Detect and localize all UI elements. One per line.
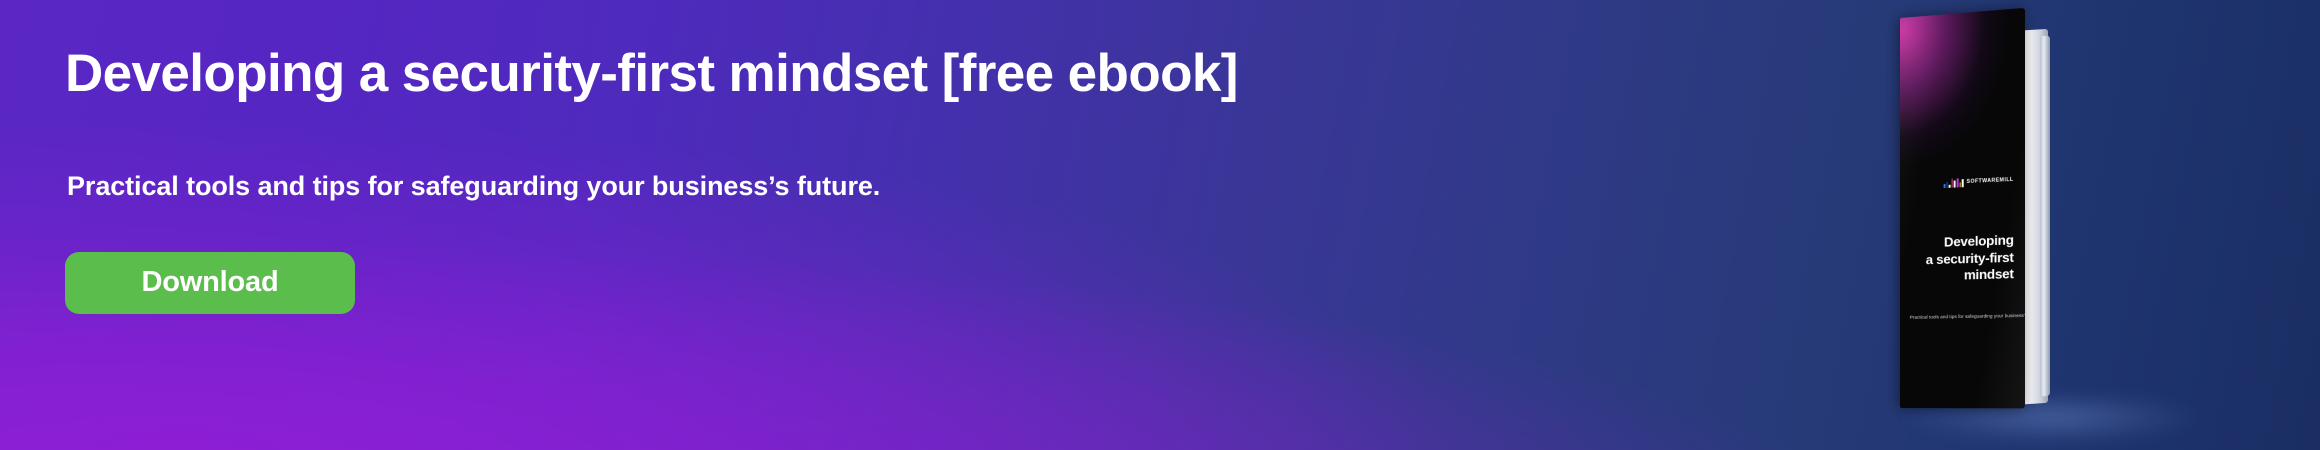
book-cover: SOFTWAREMILL Developing a security-first… — [1900, 8, 2025, 409]
book-cover-content: SOFTWAREMILL Developing a security-first… — [1900, 8, 2025, 409]
softwaremill-bars-icon — [1944, 178, 1964, 188]
download-button[interactable]: Download — [65, 252, 355, 314]
softwaremill-logo: SOFTWAREMILL — [1944, 176, 2014, 188]
download-button-label: Download — [142, 266, 279, 299]
banner-headline: Developing a security-first mindset [fre… — [65, 43, 1238, 105]
promo-banner: Developing a security-first mindset [fre… — [0, 0, 2320, 450]
banner-copy-column: Developing a security-first mindset [fre… — [65, 0, 1485, 450]
softwaremill-wordmark: SOFTWAREMILL — [1967, 176, 2014, 187]
ebook-mockup: SOFTWAREMILL Developing a security-first… — [1900, 0, 2320, 450]
book-subtitle: Practical tools and tips for safeguardin… — [1910, 312, 2015, 321]
banner-subheadline: Practical tools and tips for safeguardin… — [67, 168, 880, 204]
book-title-line-3: mindset — [1909, 266, 2014, 285]
book-title: Developing a security-first mindset — [1909, 232, 2014, 285]
book-spine-edge — [2040, 36, 2050, 397]
